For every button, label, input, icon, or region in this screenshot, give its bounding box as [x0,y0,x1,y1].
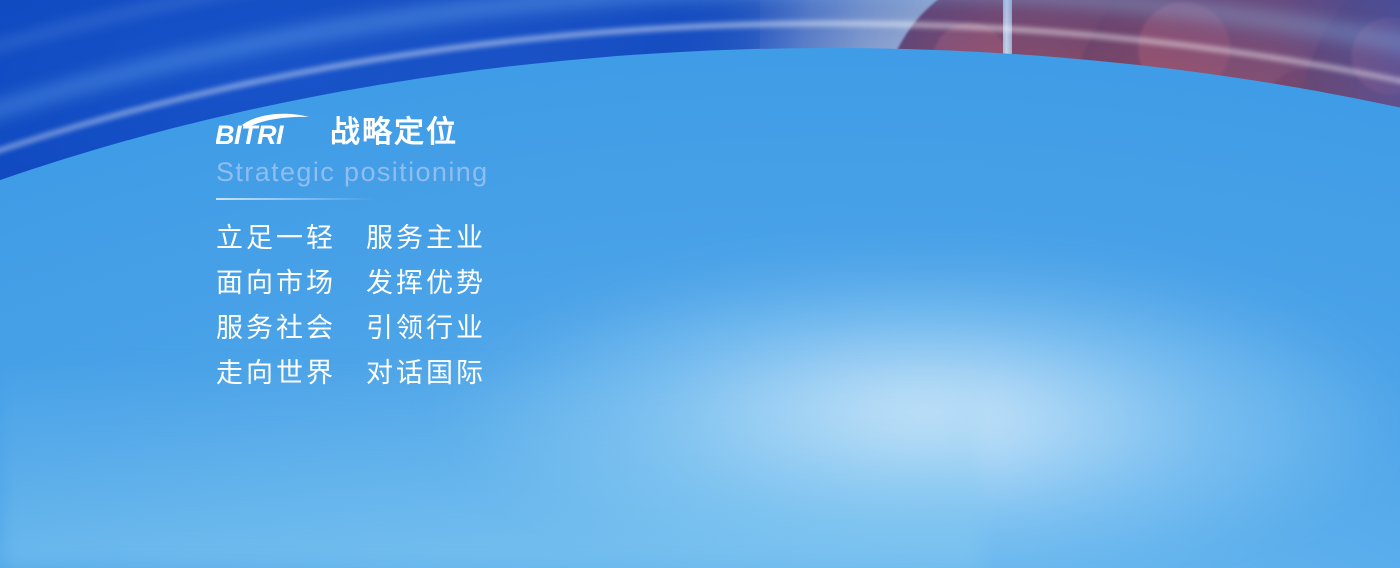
slogan-left: 面向市场 [216,261,336,306]
bitri-logo: BITRI [216,110,316,150]
slogan-left: 服务社会 [216,306,336,351]
banner-content: BITRI 战略定位 Strategic positioning 立足一轻 服务… [216,104,686,396]
slogan-line: 立足一轻 服务主业 [216,216,686,261]
slogan-line: 服务社会 引领行业 [216,306,686,351]
slogan-line: 走向世界 对话国际 [216,351,686,396]
slogan-line: 面向市场 发挥优势 [216,261,686,306]
slogan-right: 引领行业 [366,306,486,351]
title-divider [216,198,374,200]
bitri-logo-svg: BITRI [216,110,316,150]
strategic-positioning-banner: BITRI 战略定位 Strategic positioning 立足一轻 服务… [0,0,1400,568]
slogan-left: 走向世界 [216,351,336,396]
slogan-left: 立足一轻 [216,216,336,261]
slogan-right: 发挥优势 [366,261,486,306]
page-title: 战略定位 [330,116,458,150]
slogan-right: 对话国际 [366,351,486,396]
page-subtitle: Strategic positioning [216,156,686,188]
slogan-block: 立足一轻 服务主业 面向市场 发挥优势 服务社会 引领行业 走向世界 对话国际 [216,216,686,396]
slogan-right: 服务主业 [366,216,486,261]
bitri-logo-wordmark: BITRI [216,120,284,150]
title-row: BITRI 战略定位 [216,104,686,150]
